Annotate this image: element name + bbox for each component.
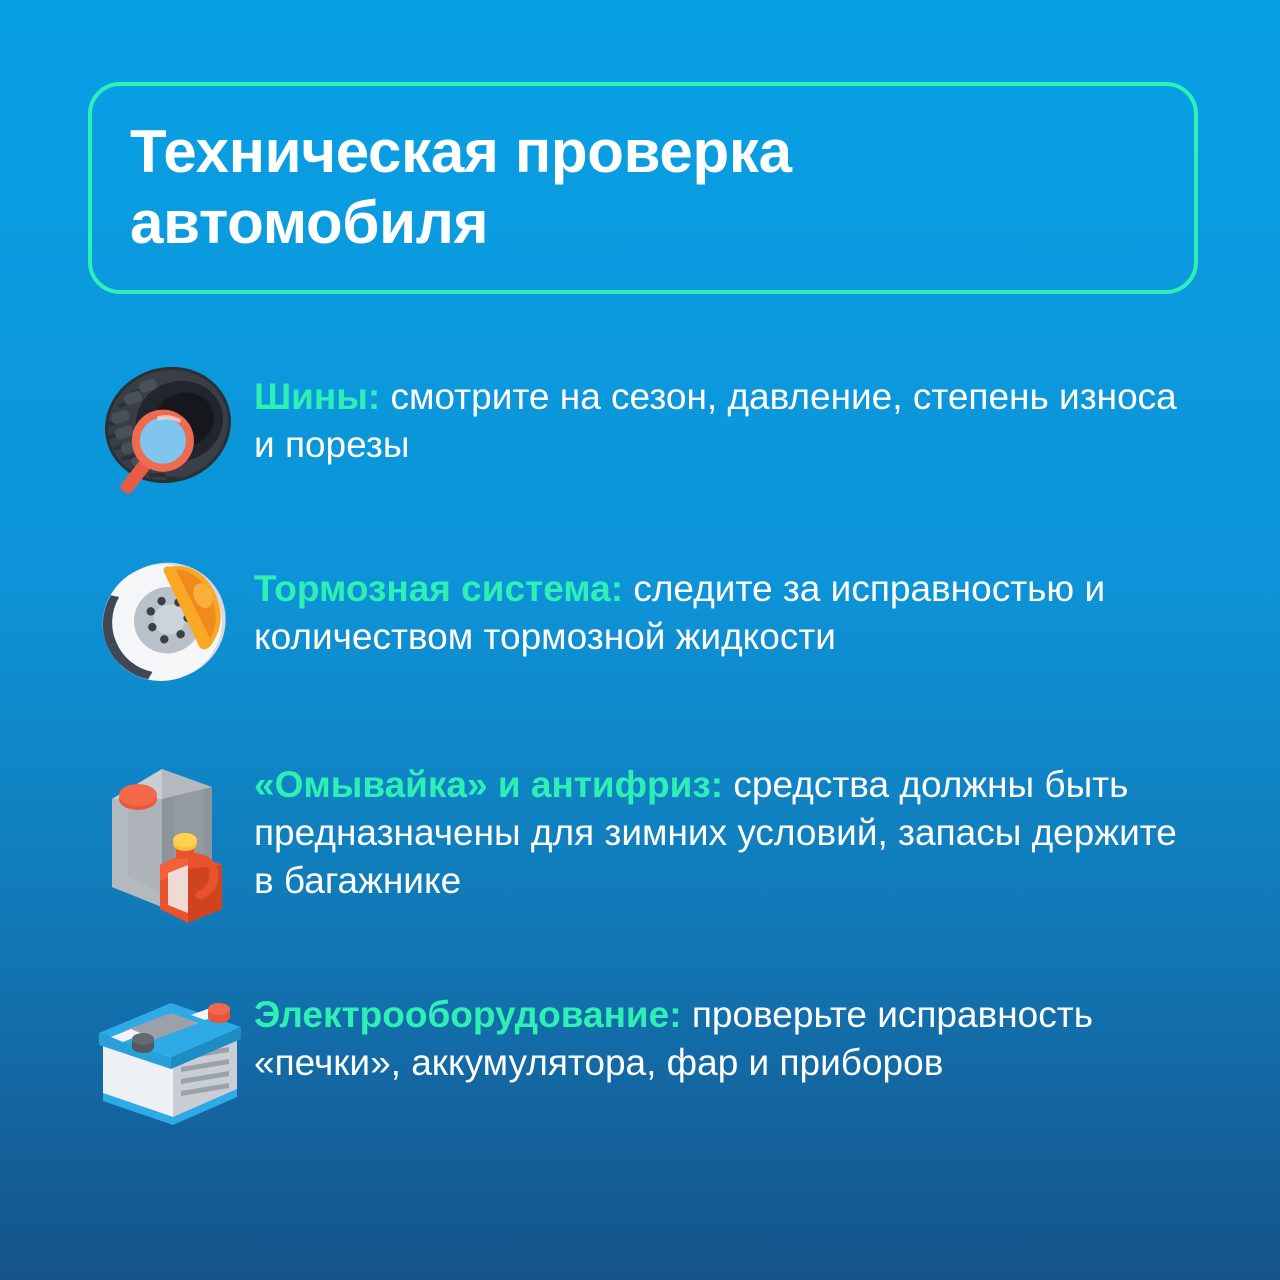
list-item-label: Тормозная система: [254, 568, 623, 609]
list-item: Шины: смотрите на сезон, давление, степе… [0, 355, 1280, 511]
title-box: Техническая проверка автомобиля [88, 82, 1198, 294]
list-item: Тормозная система: следите за исправност… [0, 547, 1280, 691]
list-item-label: Шины: [254, 376, 380, 417]
checklist: Шины: смотрите на сезон, давление, степе… [0, 355, 1280, 1127]
list-item-text: Тормозная система: следите за исправност… [254, 547, 1280, 661]
brake-disc-icon [82, 547, 254, 691]
car-battery-icon [82, 973, 254, 1127]
tire-magnifier-icon [82, 355, 254, 511]
page-title: Техническая проверка автомобиля [130, 117, 792, 259]
list-item-text: «Омывайка» и антифриз: средства должны б… [254, 743, 1280, 905]
list-item-body: смотрите на сезон, давление, степень изн… [254, 376, 1177, 465]
list-item: Электрооборудование: проверьте исправнос… [0, 973, 1280, 1127]
list-item-text: Шины: смотрите на сезон, давление, степе… [254, 355, 1280, 469]
canister-bottle-icon [82, 743, 254, 927]
list-item: «Омывайка» и антифриз: средства должны б… [0, 743, 1280, 927]
list-item-label: Электрооборудование: [254, 994, 682, 1035]
list-item-text: Электрооборудование: проверьте исправнос… [254, 973, 1280, 1087]
list-item-label: «Омывайка» и антифриз: [254, 764, 723, 805]
